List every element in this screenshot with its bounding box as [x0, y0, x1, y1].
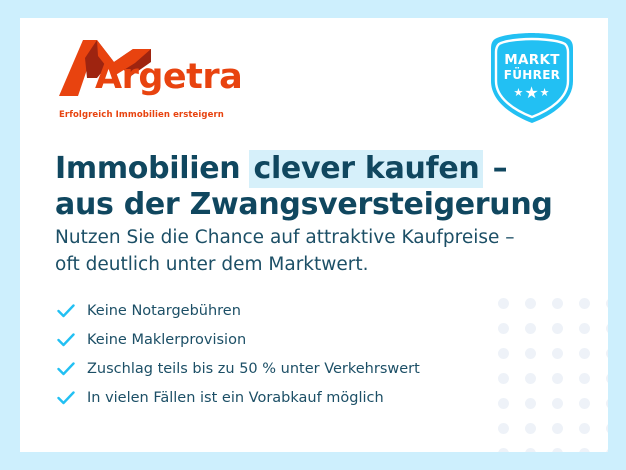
check-icon	[55, 391, 87, 405]
argetra-logo[interactable]: Argetra Erfolgreich Immobilien ersteiger…	[57, 38, 237, 118]
badge-line-fuehrer: FÜHRER	[489, 68, 575, 82]
check-icon	[55, 333, 87, 347]
page-title: Immobilien clever kaufen – aus der Zwang…	[55, 151, 525, 223]
subtitle: Nutzen Sie die Chance auf attraktive Kau…	[55, 225, 535, 279]
badge-stars: ★★★	[489, 85, 575, 102]
decorative-dot	[552, 448, 563, 452]
decorative-dot	[525, 448, 536, 452]
decorative-dot	[606, 348, 608, 359]
benefit-label: Zuschlag teils bis zu 50 % unter Verkehr…	[87, 361, 420, 377]
decorative-dot	[552, 348, 563, 359]
decorative-dot	[579, 423, 590, 434]
badge-line-markt: MARKT	[489, 52, 575, 68]
decorative-dot	[525, 373, 536, 384]
decorative-dot	[606, 448, 608, 452]
market-leader-badge: MARKT FÜHRER ★★★	[489, 31, 575, 125]
decorative-dot	[606, 423, 608, 434]
decorative-dot	[606, 298, 608, 309]
decorative-dot	[525, 423, 536, 434]
decorative-dot	[606, 398, 608, 409]
promo-banner: Argetra Erfolgreich Immobilien ersteiger…	[0, 0, 626, 470]
decorative-dot	[525, 323, 536, 334]
subtitle-line-1: Nutzen Sie die Chance auf attraktive Kau…	[55, 225, 535, 252]
decorative-dot	[552, 398, 563, 409]
decorative-dot	[498, 423, 509, 434]
decorative-dot	[579, 448, 590, 452]
decorative-dot	[525, 298, 536, 309]
headline-highlight: clever kaufen	[249, 150, 483, 188]
list-item: In vielen Fällen ist ein Vorabkauf mögli…	[55, 383, 525, 412]
decorative-dot	[552, 423, 563, 434]
list-item: Zuschlag teils bis zu 50 % unter Verkehr…	[55, 354, 525, 383]
decorative-dot	[606, 323, 608, 334]
decorative-dot	[525, 398, 536, 409]
subtitle-line-2: oft deutlich unter dem Marktwert.	[55, 252, 535, 279]
badge-star-3: ★	[540, 87, 551, 99]
banner-canvas: Argetra Erfolgreich Immobilien ersteiger…	[20, 18, 608, 452]
benefit-list: Keine Notargebühren Keine Maklerprovisio…	[55, 296, 525, 412]
check-icon	[55, 362, 87, 376]
decorative-dot	[579, 348, 590, 359]
decorative-dot	[579, 298, 590, 309]
badge-star-1: ★	[513, 87, 524, 99]
decorative-dot	[525, 348, 536, 359]
decorative-dot	[552, 323, 563, 334]
decorative-dot	[498, 448, 509, 452]
benefit-label: Keine Maklerprovision	[87, 332, 246, 348]
decorative-dot	[579, 398, 590, 409]
logo-wordmark: Argetra	[95, 60, 242, 95]
headline-line-2: aus der Zwangsversteigerung	[55, 187, 525, 223]
decorative-dot	[552, 373, 563, 384]
benefit-label: Keine Notargebühren	[87, 303, 241, 319]
decorative-dot	[552, 298, 563, 309]
list-item: Keine Maklerprovision	[55, 325, 525, 354]
logo-tagline: Erfolgreich Immobilien ersteigern	[59, 110, 224, 120]
benefit-label: In vielen Fällen ist ein Vorabkauf mögli…	[87, 390, 384, 406]
headline-prefix: Immobilien	[55, 151, 250, 186]
decorative-dot	[579, 373, 590, 384]
decorative-dot	[606, 373, 608, 384]
badge-star-2: ★	[524, 85, 539, 102]
headline-suffix: –	[482, 151, 507, 186]
check-icon	[55, 304, 87, 318]
list-item: Keine Notargebühren	[55, 296, 525, 325]
decorative-dot	[579, 323, 590, 334]
headline-line-1: Immobilien clever kaufen –	[55, 151, 525, 187]
